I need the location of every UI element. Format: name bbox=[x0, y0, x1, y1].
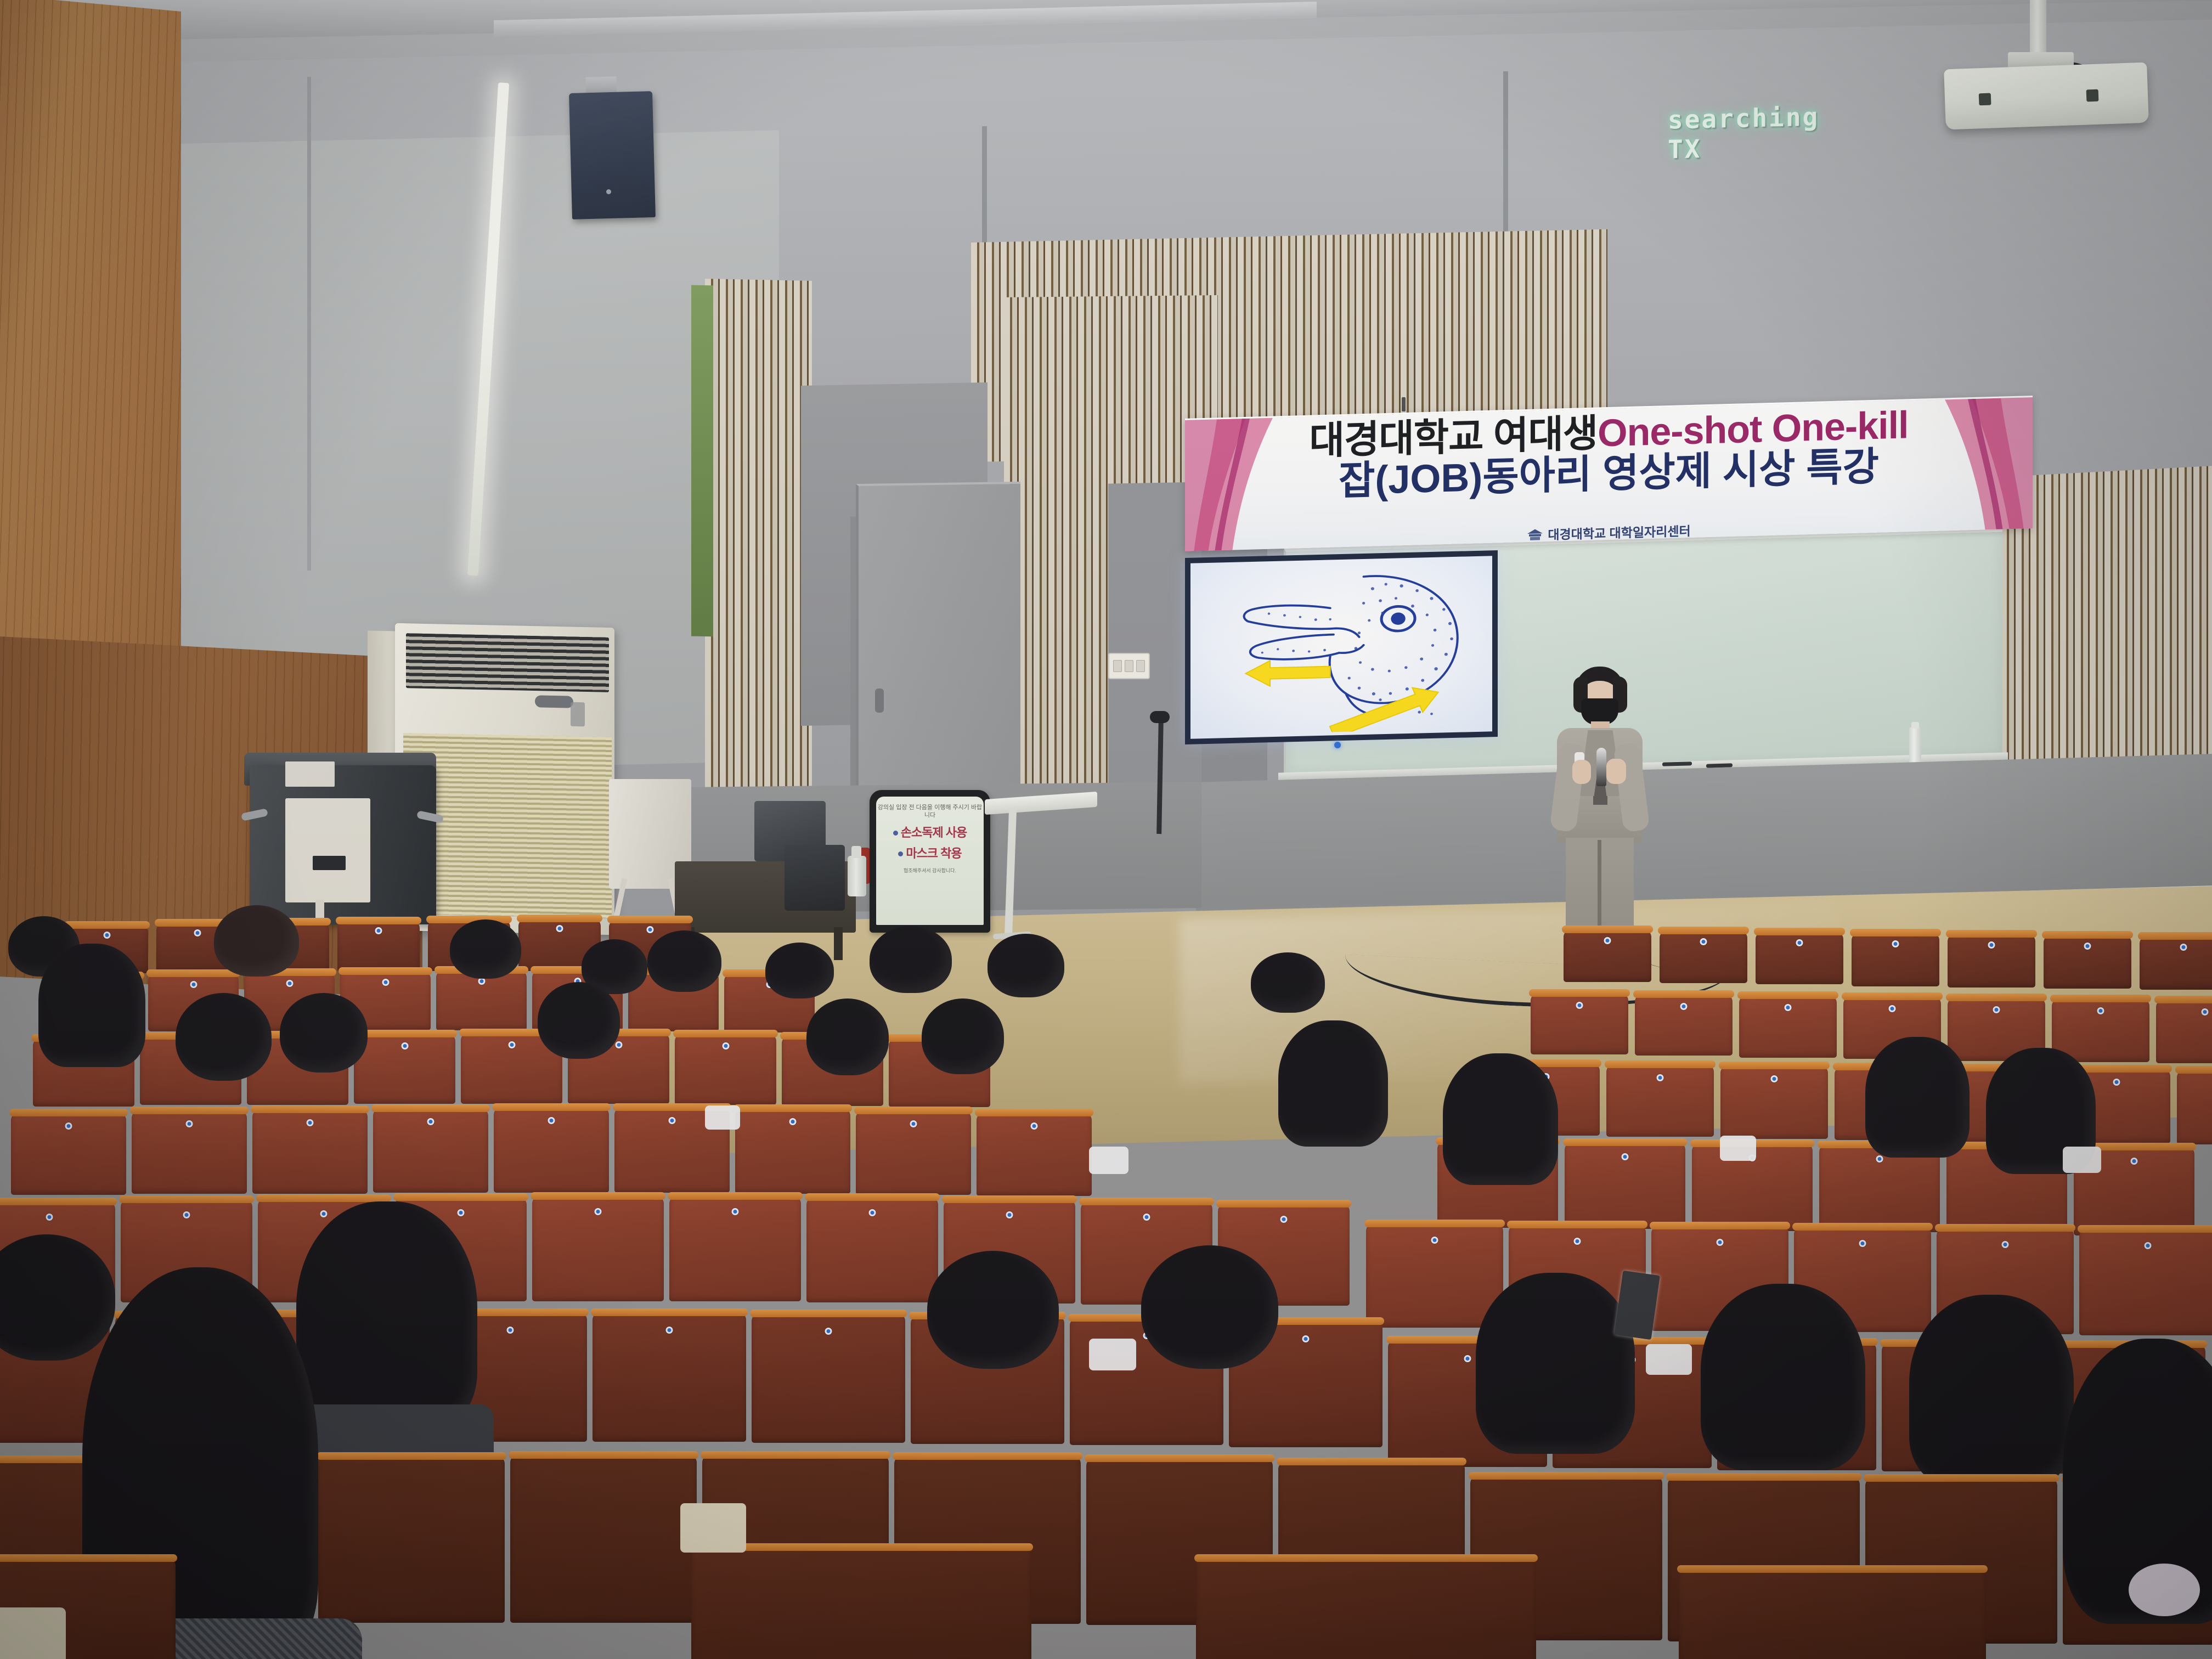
wall-mounted-speaker bbox=[569, 91, 656, 219]
seat[interactable] bbox=[1819, 1144, 1940, 1232]
seat-badge-icon bbox=[647, 926, 654, 933]
audience-head bbox=[806, 998, 889, 1075]
light-switch-icon[interactable] bbox=[1136, 660, 1145, 672]
seat-badge-icon bbox=[286, 980, 293, 987]
seat-badge-icon bbox=[1657, 1074, 1664, 1081]
light-switch-icon[interactable] bbox=[1125, 660, 1133, 672]
paper-item[interactable] bbox=[680, 1503, 746, 1553]
seat-badge-icon bbox=[732, 1208, 739, 1215]
seat[interactable] bbox=[1660, 930, 1747, 983]
face-mask bbox=[1089, 1339, 1136, 1370]
seat[interactable] bbox=[132, 1110, 247, 1194]
audience-head bbox=[1278, 1020, 1388, 1147]
equipment-case-panel bbox=[285, 798, 370, 902]
face-mask bbox=[1720, 1136, 1756, 1161]
audience-head bbox=[922, 998, 1004, 1074]
equipment-case-slot bbox=[313, 856, 346, 870]
seat[interactable] bbox=[2044, 935, 2131, 989]
audience-head bbox=[870, 926, 952, 993]
seat-badge-icon bbox=[1889, 1005, 1896, 1012]
tote-bag[interactable] bbox=[0, 1607, 66, 1659]
seat[interactable] bbox=[436, 970, 527, 1030]
seat-badge-icon bbox=[2131, 1158, 2138, 1165]
seat[interactable] bbox=[2052, 998, 2149, 1062]
audience-head bbox=[538, 982, 620, 1059]
audience-head bbox=[280, 993, 368, 1073]
seat-badge-icon bbox=[669, 1117, 676, 1124]
audience-head bbox=[450, 919, 521, 979]
seat-badge-icon bbox=[65, 1122, 72, 1130]
projected-slide bbox=[1190, 556, 1492, 738]
event-banner: 대경대학교 여대생One-shot One-kill 잡(JOB)동아리 영상제… bbox=[1185, 396, 2033, 551]
seat-badge-icon bbox=[307, 1119, 314, 1126]
seat[interactable] bbox=[2156, 1000, 2212, 1063]
seat[interactable] bbox=[337, 921, 420, 972]
seat[interactable] bbox=[2140, 936, 2212, 990]
projector-vent-icon bbox=[1979, 93, 1991, 106]
seat-badge-icon bbox=[1993, 1006, 2000, 1013]
seat[interactable] bbox=[752, 1313, 905, 1443]
seat-badge-icon bbox=[1680, 1003, 1688, 1010]
seat-badge-icon bbox=[595, 1208, 602, 1215]
presenter-face-mask bbox=[1581, 698, 1618, 725]
seat-badge-icon bbox=[104, 932, 111, 939]
seat[interactable] bbox=[1739, 995, 1837, 1058]
up-right-arrow-icon bbox=[1327, 680, 1443, 735]
seat-badge-icon bbox=[46, 1214, 53, 1221]
seat-badge-icon bbox=[2145, 1242, 2152, 1249]
seat-badge-icon bbox=[1574, 1238, 1581, 1245]
seat-badge-icon bbox=[789, 1118, 797, 1125]
audience-head bbox=[296, 1201, 477, 1432]
seat-badge-icon bbox=[183, 1211, 190, 1218]
seat[interactable] bbox=[252, 1109, 368, 1194]
seat-badge-icon bbox=[1143, 1214, 1150, 1221]
seat-badge-icon bbox=[615, 1041, 622, 1048]
seat-badge-icon bbox=[320, 1210, 328, 1217]
seat[interactable] bbox=[1606, 1064, 1714, 1137]
handheld-microphone bbox=[1596, 748, 1606, 786]
seat[interactable] bbox=[2177, 1070, 2212, 1144]
audience-head bbox=[38, 944, 145, 1067]
face-mask bbox=[1646, 1344, 1692, 1375]
seat-badge-icon bbox=[1859, 1240, 1866, 1247]
seat[interactable] bbox=[1635, 994, 1733, 1056]
seat-badge-icon bbox=[1280, 1216, 1288, 1223]
audience-head bbox=[1141, 1245, 1278, 1369]
seat-badge-icon bbox=[722, 1042, 729, 1049]
audience-head bbox=[1443, 1053, 1558, 1185]
seat[interactable] bbox=[373, 1108, 488, 1193]
screen-indicator-light bbox=[1334, 742, 1341, 748]
seat-badge-icon bbox=[190, 981, 197, 988]
seat-badge-icon bbox=[825, 1328, 832, 1335]
bullet-icon bbox=[898, 851, 903, 856]
seat[interactable] bbox=[1564, 929, 1651, 982]
seat-badge-icon bbox=[2180, 944, 2187, 951]
seat-badge-icon bbox=[1006, 1211, 1013, 1218]
duck-rabbit-illusion-icon bbox=[1197, 560, 1486, 735]
audience-head bbox=[647, 930, 721, 992]
seat-badge-icon bbox=[1431, 1237, 1438, 1244]
door-handle[interactable] bbox=[875, 689, 884, 713]
seat[interactable] bbox=[691, 1547, 1031, 1659]
light-switch-icon[interactable] bbox=[1113, 660, 1122, 672]
seat-badge-icon bbox=[869, 1209, 876, 1216]
seat-badge-icon bbox=[556, 925, 563, 932]
seat[interactable] bbox=[1196, 1558, 1536, 1659]
seat-badge-icon bbox=[1576, 1002, 1583, 1009]
seat-badge-icon bbox=[1302, 1335, 1310, 1342]
left-arrow-icon bbox=[1245, 659, 1330, 687]
audience-head bbox=[1701, 1284, 1865, 1470]
seat-badge-icon bbox=[458, 1209, 465, 1216]
seat-badge-icon bbox=[2113, 1079, 2120, 1086]
projector-vent-icon bbox=[2086, 89, 2099, 102]
seat-badge-icon bbox=[194, 929, 201, 936]
seat[interactable] bbox=[856, 1110, 971, 1195]
seat[interactable] bbox=[318, 1456, 505, 1623]
auditorium-photo: 대경대학교 여대생One-shot One-kill 잡(JOB)동아리 영상제… bbox=[0, 0, 2212, 1659]
wall-seam bbox=[307, 77, 311, 571]
seat[interactable] bbox=[1531, 993, 1628, 1054]
seat-badge-icon bbox=[427, 1118, 435, 1125]
seat-badge-icon bbox=[1988, 941, 1995, 949]
notice-footer: 협조해주셔서 감사합니다. bbox=[904, 867, 956, 874]
presenter-hand bbox=[1572, 760, 1591, 784]
seat-badge-icon bbox=[666, 1327, 673, 1334]
seat[interactable] bbox=[510, 1455, 697, 1623]
air-conditioner-grille bbox=[406, 633, 609, 692]
green-wall-accent bbox=[691, 285, 713, 637]
seat-badge-icon bbox=[1717, 1239, 1724, 1246]
seat-badge-icon bbox=[1464, 1355, 1471, 1362]
seat-badge-icon bbox=[1876, 1155, 1883, 1163]
air-conditioner-logo bbox=[571, 702, 585, 727]
notice-item-sanitizer: 손소독제 사용 bbox=[893, 823, 967, 840]
ceiling-projector bbox=[1944, 63, 2149, 130]
seat-badge-icon bbox=[186, 1120, 193, 1127]
banner-nail bbox=[1402, 397, 1406, 411]
seat-badge-icon bbox=[2097, 1007, 2104, 1014]
seat[interactable] bbox=[1720, 1065, 1828, 1139]
sanitizer-pump-icon[interactable] bbox=[851, 846, 861, 858]
seat[interactable] bbox=[592, 1312, 746, 1442]
water-bottle-cap bbox=[1911, 722, 1919, 729]
led-status-sign: searching TX bbox=[1668, 115, 1849, 151]
audience-head bbox=[1909, 1295, 2074, 1487]
face-mask bbox=[1089, 1147, 1128, 1174]
seat[interactable] bbox=[735, 1108, 850, 1194]
microphone-head bbox=[1150, 711, 1170, 723]
seat[interactable] bbox=[11, 1113, 126, 1195]
seat[interactable] bbox=[1756, 932, 1843, 984]
audience-head bbox=[1476, 1273, 1635, 1454]
seat-badge-icon bbox=[401, 1042, 408, 1049]
equipment-case-label bbox=[285, 761, 335, 787]
audience-seating-area bbox=[0, 911, 2212, 1659]
audience-head bbox=[1865, 1037, 1970, 1158]
seat[interactable] bbox=[494, 1107, 609, 1193]
seat-badge-icon bbox=[910, 1120, 917, 1127]
air-conditioner-display bbox=[535, 695, 573, 708]
seat[interactable] bbox=[675, 1034, 776, 1105]
seat[interactable] bbox=[1948, 934, 2035, 988]
covid-notice-card: 강의실 입장 전 다음을 이행해 주시기 바랍니다 손소독제 사용 마스크 착용… bbox=[876, 797, 984, 925]
seat-badge-icon bbox=[507, 1327, 514, 1334]
seat[interactable] bbox=[806, 1197, 938, 1302]
seat[interactable] bbox=[354, 1034, 455, 1104]
projector-mount-pole bbox=[2030, 0, 2046, 60]
seat[interactable] bbox=[1565, 1142, 1685, 1229]
seat-badge-icon bbox=[1771, 1075, 1778, 1082]
presenter-hand bbox=[1606, 759, 1626, 784]
audience-head bbox=[927, 1251, 1059, 1369]
seat[interactable] bbox=[1679, 1569, 1986, 1659]
audience-head bbox=[1251, 952, 1325, 1013]
face-mask bbox=[2063, 1147, 2101, 1173]
notice-item-mask: 마스크 착용 bbox=[898, 844, 961, 861]
seat-badge-icon bbox=[508, 1041, 515, 1048]
audience-head bbox=[765, 943, 834, 998]
seat-badge-icon bbox=[2084, 943, 2091, 950]
building-logo-glyph bbox=[1527, 528, 1543, 541]
bullet-icon bbox=[893, 831, 898, 836]
seat[interactable] bbox=[977, 1113, 1092, 1196]
seat-badge-icon bbox=[1622, 1153, 1629, 1160]
seat-badge-icon bbox=[1031, 1122, 1038, 1130]
flower-petal-icon bbox=[1185, 418, 1273, 551]
light-switch-panel[interactable] bbox=[1108, 653, 1150, 679]
seat[interactable] bbox=[532, 1196, 664, 1301]
seat-badge-icon bbox=[2002, 1241, 2009, 1248]
seat-badge-icon bbox=[1796, 939, 1803, 946]
projection-screen bbox=[1185, 550, 1498, 744]
speaker-indicator-icon bbox=[606, 189, 611, 194]
hair-scrunchie bbox=[2129, 1564, 2200, 1616]
banner-text-block: 대경대학교 여대생One-shot One-kill 잡(JOB)동아리 영상제… bbox=[1278, 404, 1939, 504]
seat-badge-icon bbox=[1785, 1004, 1792, 1011]
seat-badge-icon bbox=[1700, 938, 1707, 945]
seat-badge-icon bbox=[548, 1117, 555, 1124]
seat-badge-icon bbox=[375, 927, 382, 934]
led-sign-text: searching TX bbox=[1668, 101, 1849, 165]
audience-head bbox=[988, 934, 1064, 997]
audience-head bbox=[176, 993, 272, 1081]
seat-badge-icon bbox=[382, 979, 389, 986]
seat-badge-icon bbox=[2202, 1008, 2209, 1015]
hand-sanitizer-bottle[interactable] bbox=[848, 856, 866, 896]
seat[interactable] bbox=[2079, 1229, 2212, 1335]
marker-pen[interactable] bbox=[1662, 761, 1692, 766]
floor-speaker bbox=[785, 845, 845, 911]
seat[interactable] bbox=[1366, 1223, 1503, 1328]
seat[interactable] bbox=[669, 1196, 801, 1301]
seat[interactable] bbox=[1852, 933, 1939, 986]
notice-header: 강의실 입장 전 다음을 이행해 주시기 바랍니다 bbox=[876, 804, 984, 820]
audience-head bbox=[214, 905, 299, 977]
banner-flower-decoration bbox=[1185, 418, 1273, 551]
seat-badge-icon bbox=[1604, 937, 1611, 944]
seat-badge-icon bbox=[1892, 940, 1899, 947]
face-mask bbox=[705, 1105, 740, 1130]
